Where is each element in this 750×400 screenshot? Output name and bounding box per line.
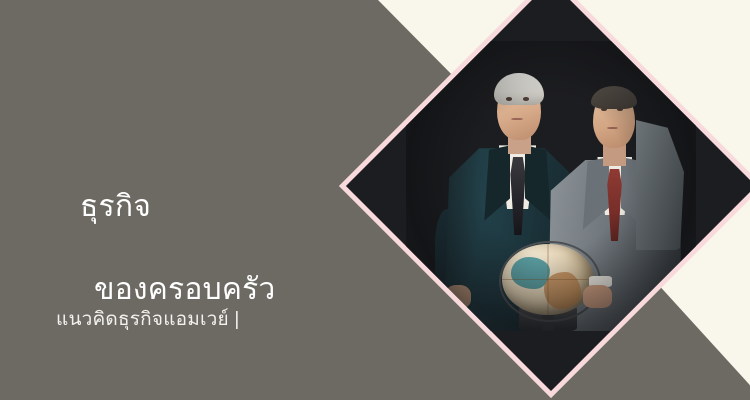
headline-line-2: ของครอบครัว — [94, 269, 380, 310]
right-man-eye-left — [601, 108, 607, 111]
photo-unrotate-layer — [346, 0, 750, 391]
headline-line-1: ธุรกิจ — [80, 186, 380, 227]
left-man-eye-right — [523, 97, 529, 100]
right-man-eye-right — [617, 108, 623, 111]
left-man-eye-left — [506, 97, 512, 100]
right-man-hair — [591, 86, 637, 109]
diamond-photo-clip — [346, 0, 750, 391]
promo-banner: ธุรกิจ ของครอบครัว แนวคิดธุรกิจแอมเวย์ | — [0, 0, 750, 400]
globe-meridian-ring — [499, 241, 600, 322]
left-man-hair — [494, 73, 543, 105]
subtitle-breadcrumb: แนวคิดธุรกิจแอมเวย์ | — [56, 308, 239, 333]
right-man-hand — [583, 285, 612, 308]
